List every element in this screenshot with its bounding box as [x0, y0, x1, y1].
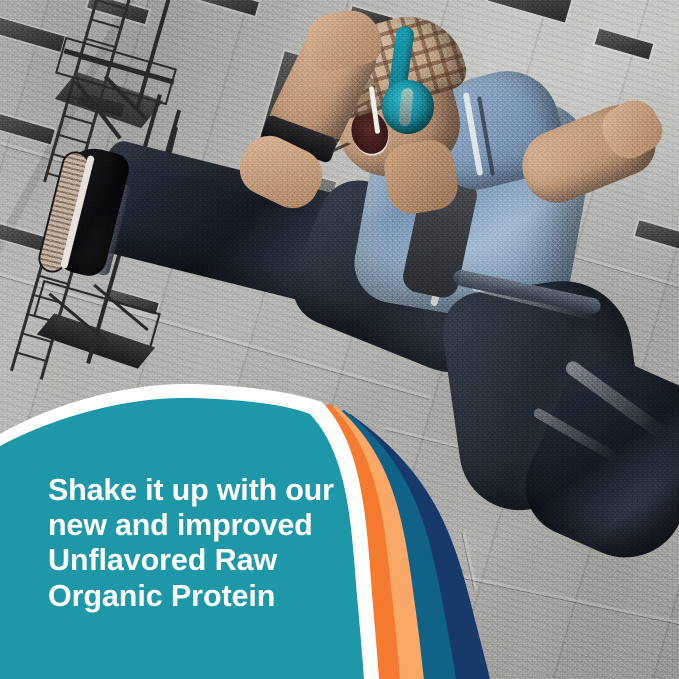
promo-copy: Shake it up with our new and improved Un…	[48, 473, 368, 614]
product-name-line-2: Organic Protein	[48, 579, 368, 614]
headline-line-1: Shake it up with our	[48, 473, 368, 508]
headline-line-2: new and improved	[48, 508, 368, 543]
product-name-line-1: Unflavored Raw	[48, 543, 368, 578]
promo-banner: Shake it up with our new and improved Un…	[0, 0, 679, 679]
